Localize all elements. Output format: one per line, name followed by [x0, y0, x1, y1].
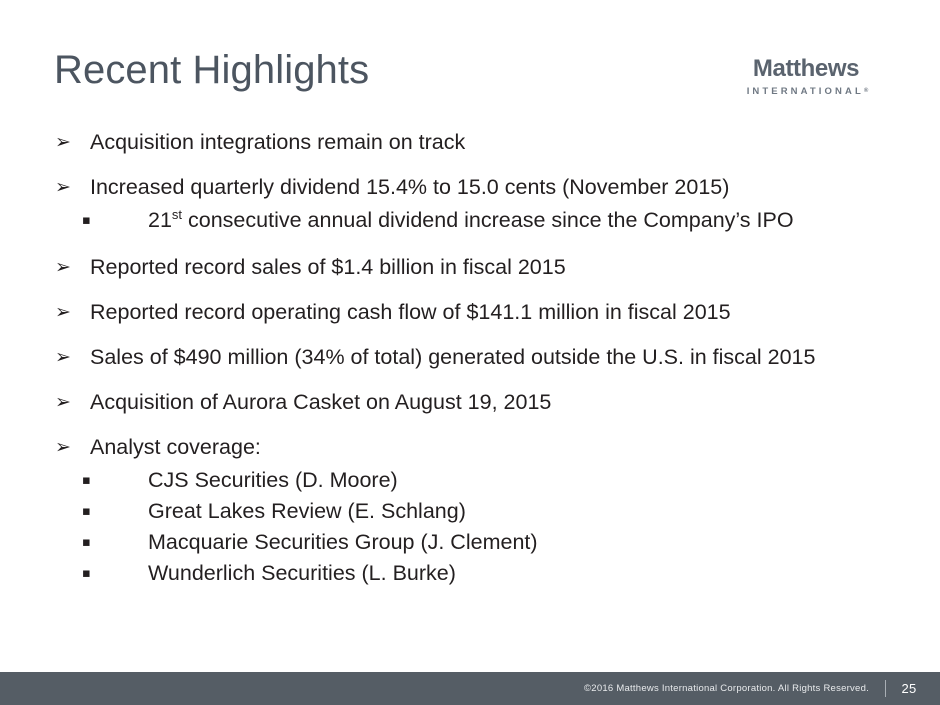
bullet-text: Reported record operating cash flow of $…	[90, 300, 731, 324]
bullet-text: CJS Securities (D. Moore)	[148, 468, 398, 492]
bullet-item: ➢ Acquisition integrations remain on tra…	[54, 128, 890, 156]
bullet-text: Reported record sales of $1.4 billion in…	[90, 255, 566, 279]
bullet-item: ➢ Analyst coverage:	[54, 433, 890, 461]
bullet-text-suffix: consecutive annual dividend increase sin…	[182, 208, 794, 232]
registered-trademark-icon: ®	[864, 88, 868, 94]
logo-subtitle: INTERNATIONAL®	[716, 85, 896, 98]
sub-bullet-item: ▪ Great Lakes Review (E. Schlang)	[54, 496, 890, 527]
bullet-item: ➢ Acquisition of Aurora Casket on August…	[54, 388, 890, 416]
bullet-text: Wunderlich Securities (L. Burke)	[148, 561, 456, 585]
arrow-bullet-icon: ➢	[55, 344, 71, 371]
square-bullet-icon: ▪	[82, 527, 91, 558]
bullet-text: Analyst coverage:	[90, 435, 261, 459]
bullet-text: 21st consecutive annual dividend increas…	[148, 208, 794, 232]
footer-content: ©2016 Matthews International Corporation…	[584, 672, 918, 705]
bullet-text: Acquisition integrations remain on track	[90, 130, 465, 154]
sub-bullet-item: ▪ 21st consecutive annual dividend incre…	[54, 205, 890, 236]
arrow-bullet-icon: ➢	[55, 434, 71, 461]
square-bullet-icon: ▪	[82, 205, 91, 236]
square-bullet-icon: ▪	[82, 558, 91, 589]
sub-bullet-item: ▪ Wunderlich Securities (L. Burke)	[54, 558, 890, 589]
bullet-text: Sales of $490 million (34% of total) gen…	[90, 345, 815, 369]
sub-bullet-group: ▪ 21st consecutive annual dividend incre…	[54, 205, 890, 236]
sub-bullet-item: ▪ CJS Securities (D. Moore)	[54, 465, 890, 496]
square-bullet-icon: ▪	[82, 465, 91, 496]
arrow-bullet-icon: ➢	[55, 389, 71, 416]
bullet-text-prefix: 21	[148, 208, 172, 232]
arrow-bullet-icon: ➢	[55, 254, 71, 281]
footer-bar: ©2016 Matthews International Corporation…	[0, 672, 940, 705]
footer-divider	[885, 680, 886, 697]
bullet-item: ➢ Increased quarterly dividend 15.4% to …	[54, 173, 890, 201]
matthews-international-logo: Matthews INTERNATIONAL®	[716, 56, 896, 98]
bullet-item: ➢ Reported record operating cash flow of…	[54, 298, 890, 326]
bullet-item: ➢ Sales of $490 million (34% of total) g…	[54, 343, 890, 371]
logo-subtitle-text: INTERNATIONAL	[747, 86, 864, 97]
page-title: Recent Highlights	[54, 47, 369, 93]
slide-canvas: Recent Highlights Matthews INTERNATIONAL…	[0, 0, 940, 705]
page-number: 25	[900, 681, 918, 696]
sub-bullet-group: ▪ CJS Securities (D. Moore) ▪ Great Lake…	[54, 465, 890, 589]
ordinal-suffix: st	[172, 207, 182, 222]
square-bullet-icon: ▪	[82, 496, 91, 527]
logo-wordmark: Matthews	[716, 56, 896, 82]
bullet-list: ➢ Acquisition integrations remain on tra…	[54, 128, 890, 589]
arrow-bullet-icon: ➢	[55, 174, 71, 201]
bullet-text: Macquarie Securities Group (J. Clement)	[148, 530, 538, 554]
bullet-text: Acquisition of Aurora Casket on August 1…	[90, 390, 551, 414]
bullet-text: Increased quarterly dividend 15.4% to 15…	[90, 175, 729, 199]
arrow-bullet-icon: ➢	[55, 299, 71, 326]
bullet-text: Great Lakes Review (E. Schlang)	[148, 499, 466, 523]
bullet-item: ➢ Reported record sales of $1.4 billion …	[54, 253, 890, 281]
copyright-notice: ©2016 Matthews International Corporation…	[584, 683, 869, 694]
sub-bullet-item: ▪ Macquarie Securities Group (J. Clement…	[54, 527, 890, 558]
arrow-bullet-icon: ➢	[55, 129, 71, 156]
